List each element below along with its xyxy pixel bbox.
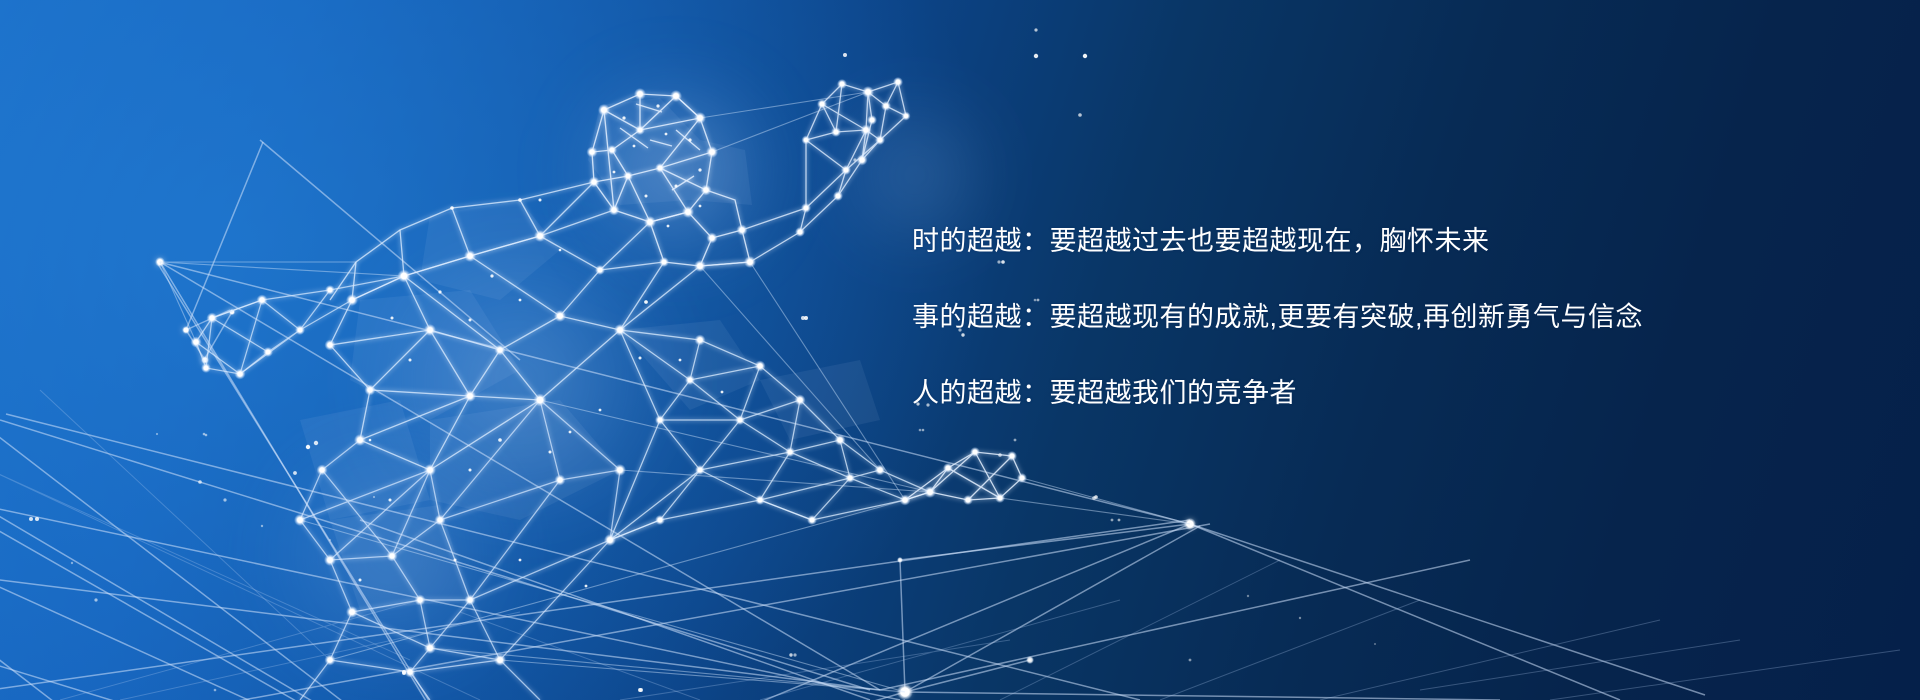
- slogan-line-2: 事的超越：要超越现有的成就,更要有突破,再创新勇气与信念: [912, 304, 1852, 331]
- figure-glow-leg: [230, 430, 550, 680]
- slogan-line-3: 人的超越：要超越我们的竞争者: [912, 380, 1852, 407]
- figure-glow-head: [560, 70, 790, 270]
- hero-banner: 时的超越：要超越过去也要超越现在，胸怀未来 事的超越：要超越现有的成就,更要有突…: [0, 0, 1920, 700]
- slogan-text-block: 时的超越：要超越过去也要超越现在，胸怀未来 事的超越：要超越现有的成就,更要有突…: [912, 228, 1852, 407]
- slogan-line-1: 时的超越：要超越过去也要超越现在，胸怀未来: [912, 228, 1852, 255]
